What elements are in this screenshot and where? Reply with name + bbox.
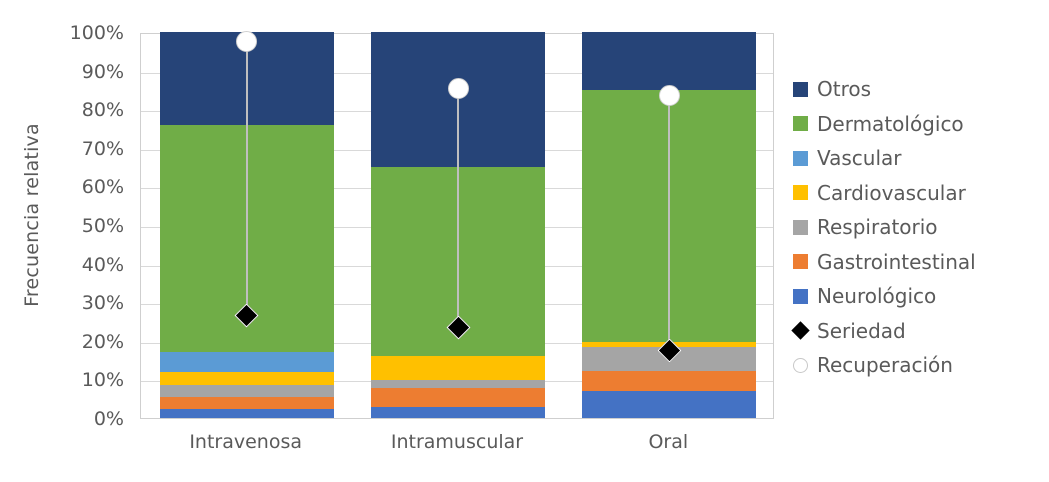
chart-container: Frecuencia relativa 100%90%80%70%60%50%4… [0, 0, 1049, 482]
legend-square-icon [793, 185, 808, 200]
legend-square-icon [793, 254, 808, 269]
legend-item-label: Recuperación [817, 355, 953, 375]
legend-item[interactable]: Recuperación [793, 348, 1043, 383]
marker-group [160, 34, 334, 418]
marker-stem [246, 42, 248, 316]
x-axis-tick: Intravenosa [140, 431, 351, 453]
legend-square-icon [793, 151, 808, 166]
y-axis-tick: 20% [82, 331, 124, 353]
legend-item[interactable]: Neurológico [793, 279, 1043, 314]
x-axis-tick: Intramuscular [351, 431, 562, 453]
legend-diamond-icon [791, 322, 809, 340]
legend-item-label: Respiratorio [817, 217, 938, 237]
legend-square-icon [793, 116, 808, 131]
legend-item-label: Cardiovascular [817, 183, 966, 203]
legend-item-label: Seriedad [817, 321, 906, 341]
marker-group [582, 34, 756, 418]
marker-group [371, 34, 545, 418]
legend-item[interactable]: Dermatológico [793, 107, 1043, 142]
seriedad-marker[interactable] [235, 304, 259, 328]
y-axis-tick: 70% [82, 138, 124, 160]
chart-legend: OtrosDermatológicoVascularCardiovascular… [793, 72, 1043, 383]
legend-item-label: Dermatológico [817, 114, 964, 134]
legend-item[interactable]: Gastrointestinal [793, 245, 1043, 280]
legend-item-label: Vascular [817, 148, 902, 168]
x-axis-tick-labels: IntravenosaIntramuscularOral [140, 425, 774, 461]
y-axis-tick: 90% [82, 61, 124, 83]
legend-item[interactable]: Vascular [793, 141, 1043, 176]
legend-item-label: Neurológico [817, 286, 936, 306]
y-axis-tick: 30% [82, 292, 124, 314]
y-axis-tick: 0% [94, 408, 124, 430]
y-axis-tick: 50% [82, 215, 124, 237]
seriedad-marker[interactable] [657, 338, 681, 362]
legend-item-label: Otros [817, 79, 871, 99]
recuperacion-marker[interactable] [236, 31, 257, 52]
y-axis-tick: 60% [82, 176, 124, 198]
legend-item[interactable]: Otros [793, 72, 1043, 107]
legend-item[interactable]: Respiratorio [793, 210, 1043, 245]
y-axis-tick-labels: 100%90%80%70%60%50%40%30%20%10%0% [48, 33, 132, 419]
legend-item-label: Gastrointestinal [817, 252, 976, 272]
plot-area [140, 33, 774, 419]
legend-circle-icon [793, 358, 808, 373]
legend-square-icon [793, 220, 808, 235]
recuperacion-marker[interactable] [659, 85, 680, 106]
recuperacion-marker[interactable] [448, 78, 469, 99]
marker-stem [668, 96, 670, 351]
legend-square-icon [793, 289, 808, 304]
y-axis-tick: 80% [82, 99, 124, 121]
marker-stem [457, 88, 459, 327]
seriedad-marker[interactable] [446, 315, 470, 339]
y-axis-title-text: Frecuencia relativa [21, 123, 43, 307]
y-axis-tick: 100% [70, 22, 124, 44]
y-axis-tick: 10% [82, 369, 124, 391]
y-axis-title: Frecuencia relativa [14, 0, 50, 430]
legend-item[interactable]: Seriedad [793, 314, 1043, 349]
x-axis-tick: Oral [563, 431, 774, 453]
legend-item[interactable]: Cardiovascular [793, 176, 1043, 211]
y-axis-tick: 40% [82, 254, 124, 276]
legend-square-icon [793, 82, 808, 97]
